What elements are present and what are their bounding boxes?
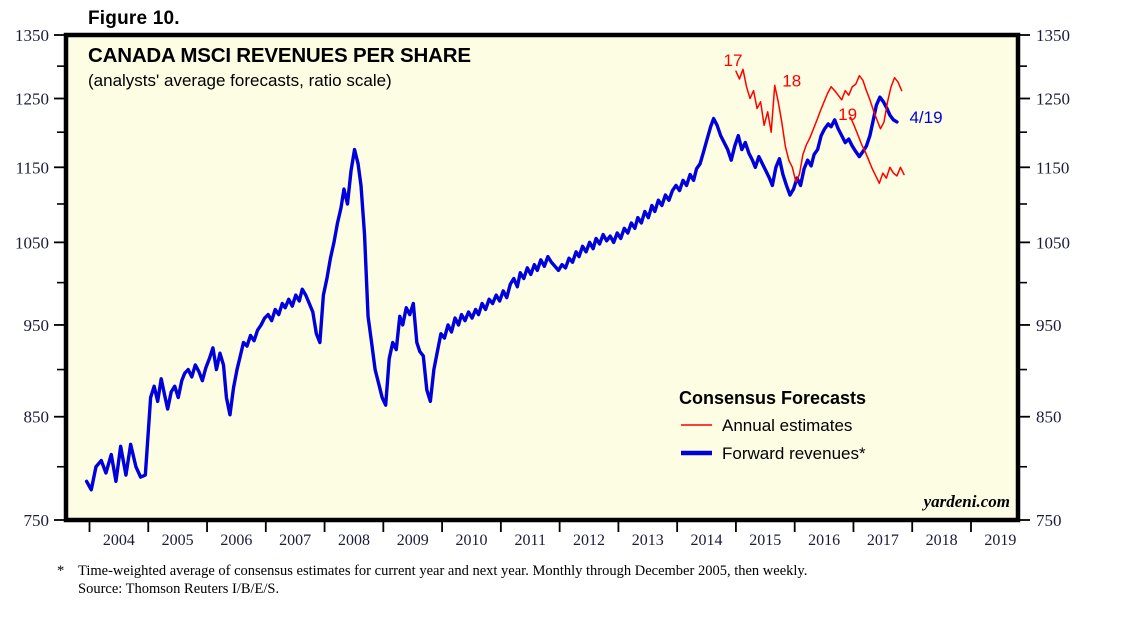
x-tick-label: 2010 (455, 532, 487, 549)
y-tick-label-right: 1250 (1036, 90, 1070, 109)
legend-label-annual-estimates: Annual estimates (722, 416, 852, 435)
x-tick-label: 2017 (867, 532, 899, 549)
x-tick-label: 2008 (338, 532, 370, 549)
footnote-line-2: Source: Thomson Reuters I/B/E/S. (78, 580, 279, 600)
latest-value-label: 4/19 (909, 108, 942, 127)
x-tick-label: 2005 (162, 532, 194, 549)
chart-title: CANADA MSCI REVENUES PER SHARE (88, 44, 471, 67)
x-tick-label: 2007 (279, 532, 311, 549)
x-tick-label: 2015 (749, 532, 781, 549)
x-tick-label: 2018 (926, 532, 958, 549)
watermark: yardeni.com (922, 492, 1010, 511)
footnote-marker: * (57, 562, 64, 582)
chart-legend: Consensus Forecasts Annual estimates For… (679, 388, 866, 463)
y-tick-label-left: 750 (24, 511, 50, 530)
y-axis-right: 7508509501050115012501350 (1020, 26, 1070, 530)
x-tick-label: 2009 (397, 532, 429, 549)
series-vintage-label: 19 (838, 105, 857, 124)
y-tick-label-right: 1350 (1036, 26, 1070, 45)
y-tick-label-right: 850 (1036, 408, 1062, 427)
y-tick-label-right: 1150 (1036, 158, 1069, 177)
x-tick-label: 2016 (808, 532, 840, 549)
y-tick-label-right: 1050 (1036, 233, 1070, 252)
x-tick-label: 2019 (984, 532, 1016, 549)
chart-subtitle: (analysts' average forecasts, ratio scal… (88, 71, 392, 90)
y-tick-label-left: 1050 (15, 233, 49, 252)
y-axis-left: 7508509501050115012501350 (15, 26, 64, 530)
x-tick-label: 2006 (220, 532, 252, 549)
legend-title: Consensus Forecasts (679, 388, 866, 408)
y-tick-label-left: 1350 (15, 26, 49, 45)
series-vintage-label: 17 (724, 51, 743, 70)
x-tick-label: 2012 (573, 532, 605, 549)
x-tick-label: 2013 (632, 532, 664, 549)
y-tick-label-left: 1250 (15, 90, 49, 109)
x-axis: 2004200520062007200820092010201120122013… (90, 522, 1017, 549)
footnote-line-1: Time-weighted average of consensus estim… (78, 562, 807, 582)
y-tick-label-right: 950 (1036, 316, 1062, 335)
x-tick-label: 2011 (515, 532, 546, 549)
y-tick-label-left: 950 (24, 316, 50, 335)
chart-canvas: 7508509501050115012501350 75085095010501… (0, 0, 1138, 555)
x-tick-label: 2004 (103, 532, 135, 549)
x-tick-label: 2014 (691, 532, 723, 549)
series-vintage-label: 18 (782, 72, 801, 91)
y-tick-label-left: 850 (24, 408, 50, 427)
figure-root: Figure 10. 7508509501050115012501350 750… (0, 0, 1138, 621)
legend-label-forward-revenues: Forward revenues* (722, 444, 866, 463)
y-tick-label-right: 750 (1036, 511, 1062, 530)
y-tick-label-left: 1150 (16, 158, 49, 177)
